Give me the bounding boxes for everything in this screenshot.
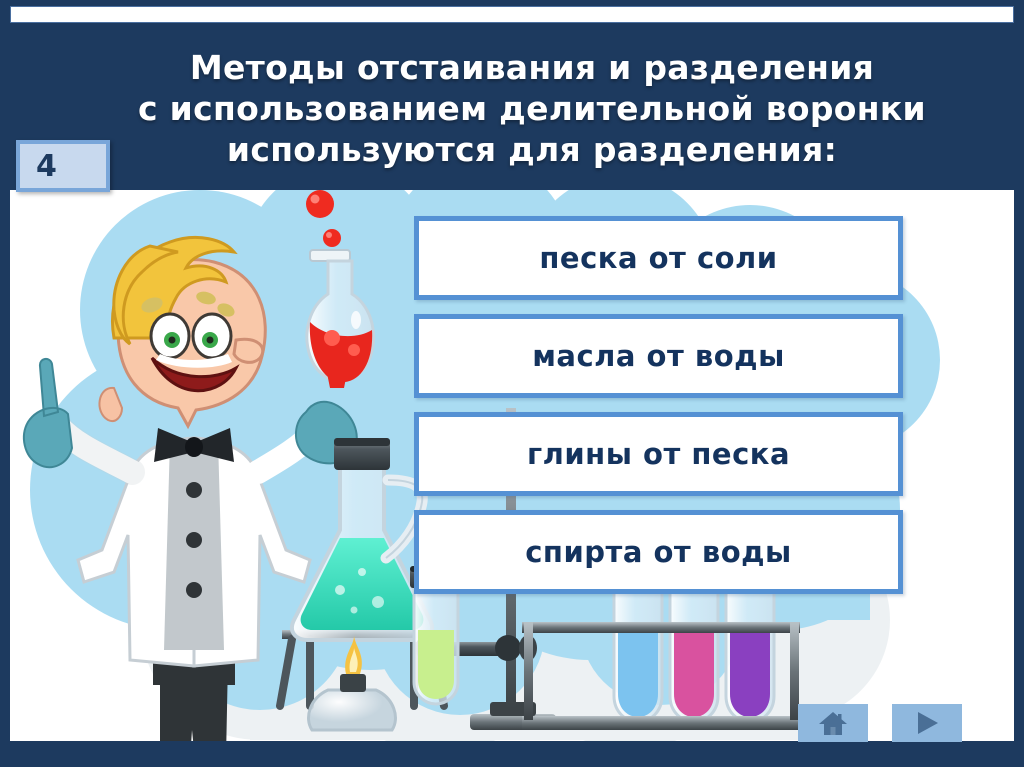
question-number-badge: 4 bbox=[16, 140, 110, 192]
glove-left bbox=[24, 359, 72, 467]
question-title-line-1: Методы отстаивания и разделения bbox=[77, 47, 987, 88]
top-white-strip bbox=[10, 6, 1014, 23]
answer-option-2[interactable]: масла от воды bbox=[414, 314, 903, 398]
answer-option-1-label: песка от соли bbox=[539, 241, 777, 275]
question-title-line-2: с использованием делительной воронки bbox=[77, 88, 987, 129]
answer-option-2-label: масла от воды bbox=[532, 339, 785, 373]
answer-option-4-label: спирта от воды bbox=[525, 535, 792, 569]
slide-header: Методы отстаивания и разделения с исполь… bbox=[0, 26, 1024, 190]
answer-option-1[interactable]: песка от соли bbox=[414, 216, 903, 300]
answer-option-3-label: глины от песка bbox=[527, 437, 790, 471]
play-arrow-icon bbox=[914, 710, 940, 736]
answer-option-3[interactable]: глины от песка bbox=[414, 412, 903, 496]
question-number-value: 4 bbox=[36, 149, 57, 184]
navigation-bar bbox=[798, 704, 962, 742]
home-icon bbox=[818, 710, 848, 736]
next-button[interactable] bbox=[892, 704, 962, 742]
answer-options-list: песка от соли масла от воды глины от пес… bbox=[414, 216, 908, 608]
question-title-line-3: используются для разделения: bbox=[77, 129, 987, 170]
quiz-slide: Методы отстаивания и разделения с исполь… bbox=[0, 0, 1024, 767]
answer-option-4[interactable]: спирта от воды bbox=[414, 510, 903, 594]
question-title: Методы отстаивания и разделения с исполь… bbox=[37, 47, 987, 170]
slide-content-area: песка от соли масла от воды глины от пес… bbox=[10, 190, 1014, 741]
home-button[interactable] bbox=[798, 704, 868, 742]
